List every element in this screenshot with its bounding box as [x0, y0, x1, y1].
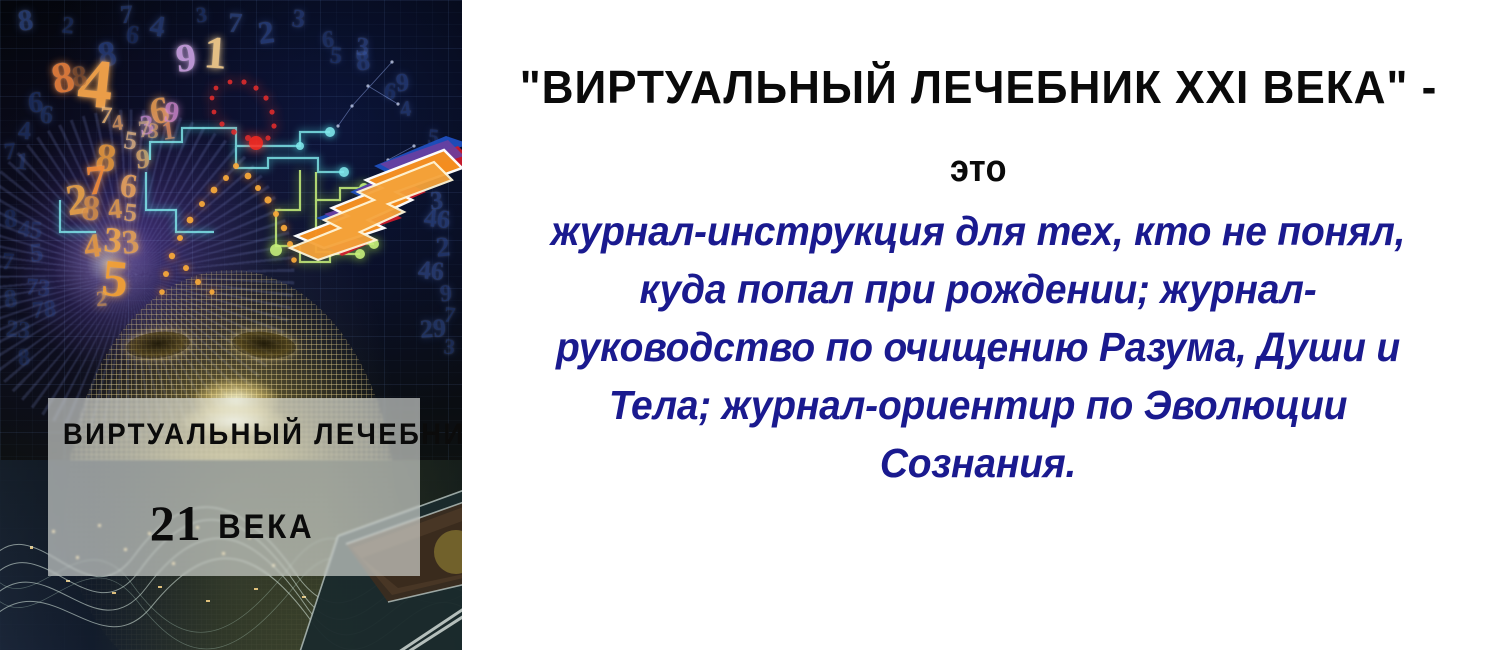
- paragraph-line: Тела; журнал-ориентир по Эволюции: [495, 376, 1460, 434]
- paragraph-line: куда попал при рождении; журнал-: [495, 260, 1460, 318]
- copula-line: это: [514, 148, 1444, 191]
- cover-subtitle: 21ВЕКА: [48, 494, 420, 552]
- cover-century-word: ВЕКА: [218, 508, 314, 547]
- paragraph-line: Сознания.: [495, 434, 1460, 492]
- magazine-cover-artwork: 8274372363869185668484716937457318928764…: [0, 0, 462, 650]
- description-paragraph: журнал-инструкция для тех, кто не понял,…: [470, 202, 1486, 492]
- page-root: 8274372363869185668484716937457318928764…: [0, 0, 1495, 650]
- cover-century-number: 21: [150, 495, 202, 551]
- text-column: "ВИРТУАЛЬНЫЙ ЛЕЧЕБНИК XXI ВЕКА" - это жу…: [462, 0, 1495, 650]
- cover-title-text: ВИРТУАЛЬНЫЙ ЛЕЧЕБНИК: [63, 418, 405, 452]
- arrow-cluster-icon: [284, 122, 462, 262]
- page-title: "ВИРТУАЛЬНЫЙ ЛЕЧЕБНИК XXI ВЕКА" -: [483, 60, 1475, 114]
- paragraph-line: журнал-инструкция для тех, кто не понял,: [495, 202, 1460, 260]
- paragraph-line: руководство по очищению Разума, Души и: [495, 318, 1460, 376]
